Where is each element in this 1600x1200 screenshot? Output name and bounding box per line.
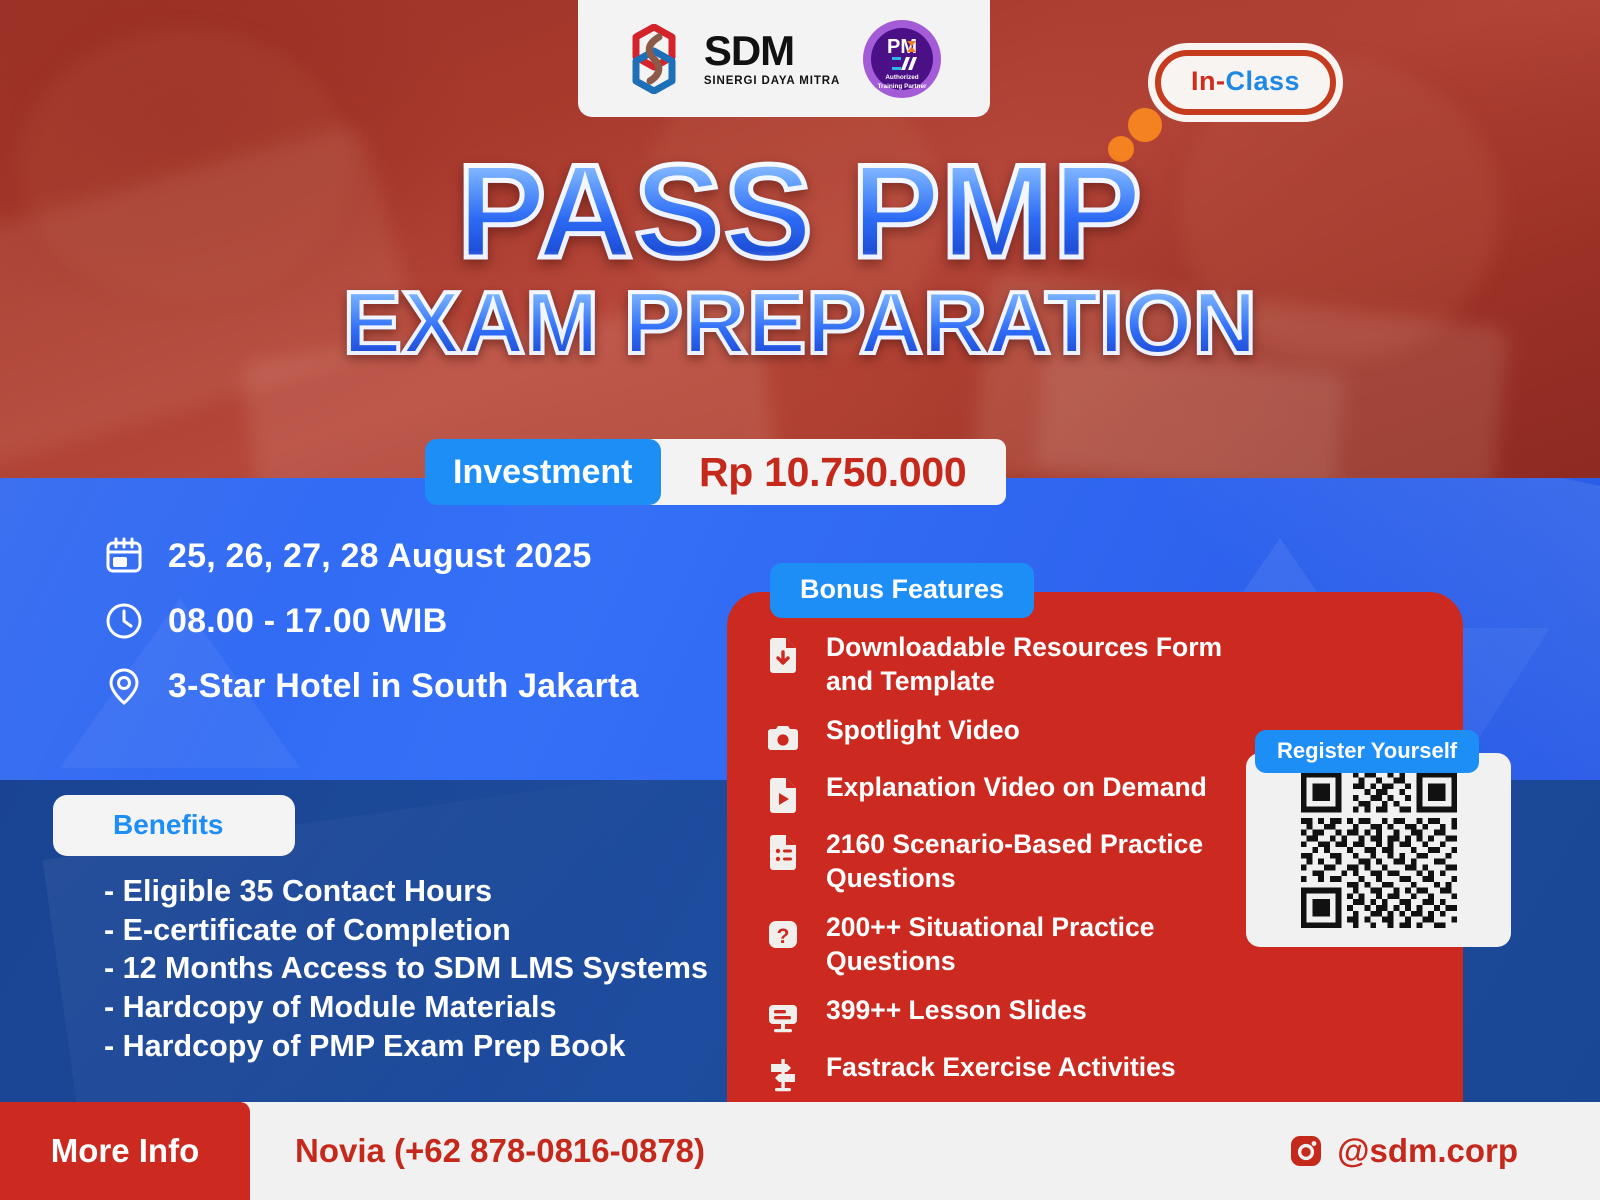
detail-row-location: 3-Star Hotel in South Jakarta xyxy=(104,666,639,706)
detail-text: 08.00 - 17.00 WIB xyxy=(168,602,447,641)
svg-text:?: ? xyxy=(777,925,790,948)
bonus-item-text: 399++ Lesson Slides xyxy=(826,993,1087,1027)
location-pin-icon xyxy=(104,666,144,706)
benefits-badge: Benefits xyxy=(53,795,295,856)
signpost-icon xyxy=(766,1055,800,1093)
in-class-badge: In-Class xyxy=(1155,50,1336,115)
contact-phone[interactable]: Novia (+62 878-0816-0878) xyxy=(295,1102,705,1200)
pmi-authorized-training-partner-icon: PM Authorized Training Partner xyxy=(862,19,942,99)
orange-dot-icon xyxy=(1128,108,1162,142)
instagram-handle: @sdm.corp xyxy=(1337,1132,1518,1170)
question-mark-icon: ? xyxy=(766,915,800,953)
investment-bar: Rp 10.750.000 Investment xyxy=(425,439,1006,505)
bonus-item-text: 2160 Scenario-Based Practice Questions xyxy=(826,827,1236,896)
bonus-item-text: Explanation Video on Demand xyxy=(826,770,1207,804)
camera-icon xyxy=(766,718,800,756)
benefit-item: - E-certificate of Completion xyxy=(104,911,708,950)
bonus-item-text: Spotlight Video xyxy=(826,713,1020,747)
instagram-link[interactable]: @sdm.corp xyxy=(1289,1102,1518,1200)
title-line-2: EXAM PREPARATION xyxy=(0,277,1600,369)
bonus-item-text: Downloadable Resources Form and Template xyxy=(826,630,1236,699)
bonus-item-text: Fastrack Exercise Activities xyxy=(826,1050,1176,1084)
more-info-label: More Info xyxy=(0,1102,250,1200)
bonus-features-list: Downloadable Resources Form and Template… xyxy=(766,630,1236,1093)
instagram-icon xyxy=(1289,1134,1323,1168)
bonus-item: Fastrack Exercise Activities xyxy=(766,1050,1236,1093)
brand-name: SDM xyxy=(704,30,840,72)
pmi-line2: Training Partner xyxy=(878,83,928,90)
file-checklist-icon xyxy=(766,832,800,870)
benefit-item: - Hardcopy of Module Materials xyxy=(104,988,708,1027)
svg-text:PM: PM xyxy=(887,36,917,58)
detail-row-date: 25, 26, 27, 28 August 2025 xyxy=(104,536,639,576)
calendar-icon xyxy=(104,536,144,576)
benefit-item: - Eligible 35 Contact Hours xyxy=(104,872,708,911)
bonus-item: ? 200++ Situational Practice Questions xyxy=(766,910,1236,979)
register-yourself-badge[interactable]: Register Yourself xyxy=(1255,730,1479,773)
benefit-item: - 12 Months Access to SDM LMS Systems xyxy=(104,949,708,988)
badge-suffix: Class xyxy=(1226,66,1301,96)
logo-panel: SDM SINERGI DAYA MITRA PM Authorized Tra… xyxy=(578,0,990,117)
detail-row-time: 08.00 - 17.00 WIB xyxy=(104,601,639,641)
pmi-line1: Authorized xyxy=(885,74,918,81)
benefit-item: - Hardcopy of PMP Exam Prep Book xyxy=(104,1027,708,1066)
event-details: 25, 26, 27, 28 August 2025 08.00 - 17.00… xyxy=(104,536,639,706)
benefits-list: - Eligible 35 Contact Hours - E-certific… xyxy=(104,872,708,1066)
investment-label: Investment xyxy=(425,439,661,505)
detail-text: 3-Star Hotel in South Jakarta xyxy=(168,667,639,706)
file-download-icon xyxy=(766,635,800,673)
bonus-item-text: 200++ Situational Practice Questions xyxy=(826,910,1236,979)
sdm-logo-icon xyxy=(626,24,682,94)
bonus-item: Downloadable Resources Form and Template xyxy=(766,630,1236,699)
qr-code[interactable] xyxy=(1295,766,1463,934)
bonus-item: Explanation Video on Demand xyxy=(766,770,1236,813)
bonus-item: 2160 Scenario-Based Practice Questions xyxy=(766,827,1236,896)
footer-bar: More Info Novia (+62 878-0816-0878) @sdm… xyxy=(0,1102,1600,1200)
detail-text: 25, 26, 27, 28 August 2025 xyxy=(168,537,592,576)
sdm-wordmark: SDM SINERGI DAYA MITRA xyxy=(704,30,840,88)
page-title: PASS PMP EXAM PREPARATION xyxy=(0,150,1600,369)
file-play-icon xyxy=(766,775,800,813)
title-line-1: PASS PMP xyxy=(0,150,1600,275)
poster-root: SDM SINERGI DAYA MITRA PM Authorized Tra… xyxy=(0,0,1600,1200)
bonus-features-badge: Bonus Features xyxy=(770,563,1034,618)
brand-tagline: SINERGI DAYA MITRA xyxy=(704,76,840,88)
presentation-screen-icon xyxy=(766,998,800,1036)
bonus-item: 399++ Lesson Slides xyxy=(766,993,1236,1036)
register-qr-card[interactable] xyxy=(1246,753,1511,947)
mode-badge-wrap: In-Class xyxy=(1155,50,1336,115)
investment-price: Rp 10.750.000 xyxy=(639,439,1006,505)
badge-prefix: In- xyxy=(1191,66,1226,96)
clock-icon xyxy=(104,601,144,641)
bonus-item: Spotlight Video xyxy=(766,713,1236,756)
